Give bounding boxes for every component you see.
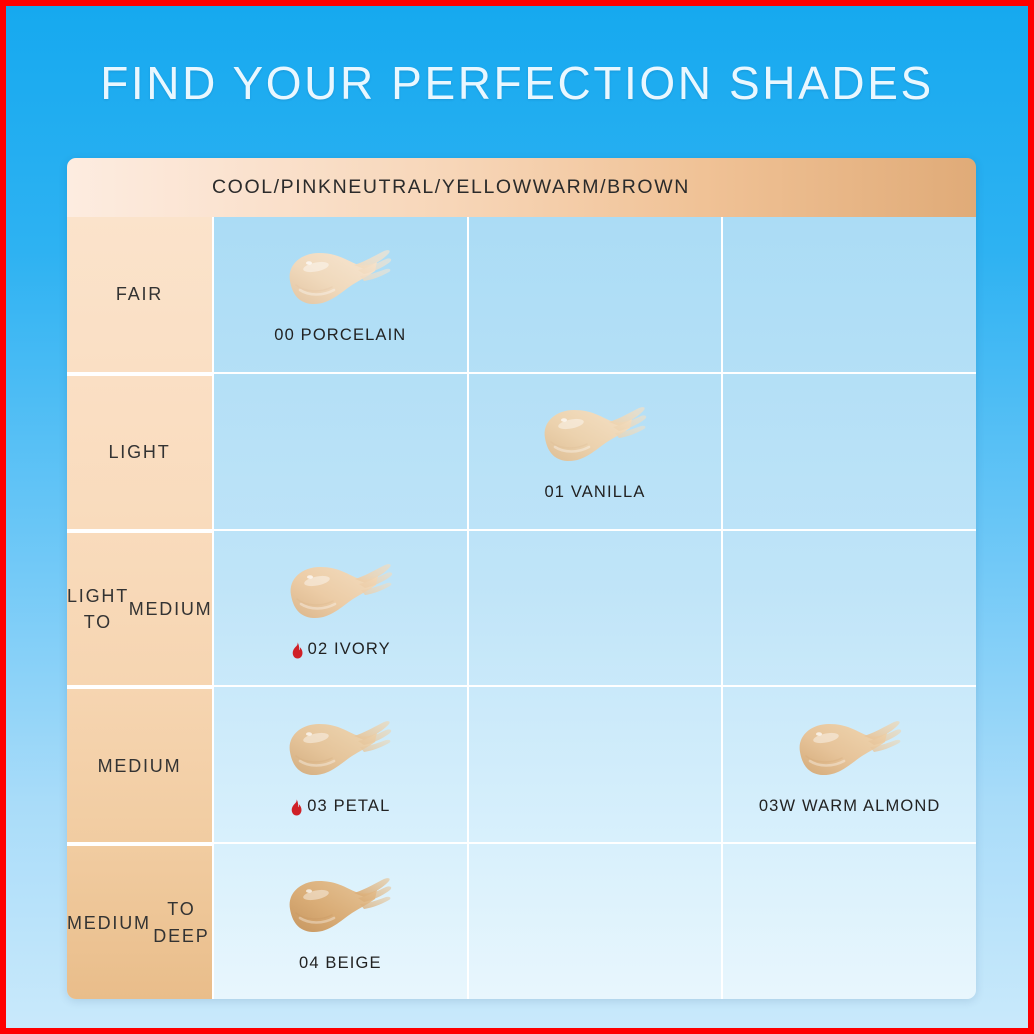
page-title: FIND YOUR PERFECTION SHADES <box>6 58 1028 109</box>
shade-name-01: 01 VANILLA <box>544 483 645 502</box>
shade-cell-empty-medium-to-deep-warm-brown <box>721 844 976 999</box>
shade-cell-00[interactable]: 00 PORCELAIN <box>212 217 467 372</box>
flame-icon <box>290 799 303 816</box>
foundation-swatch-art <box>277 557 405 631</box>
shade-cell-empty-light-warm-brown <box>721 374 976 529</box>
row-header-line: FAIR <box>116 281 163 307</box>
table-row: MEDIUM 03 PETAL <box>67 685 976 842</box>
table-header-corner <box>67 158 212 217</box>
table-row: LIGHT TOMEDIUM 02 IVORY <box>67 529 976 686</box>
shade-name-text: 01 VANILLA <box>544 483 645 502</box>
shade-name-02: 02 IVORY <box>291 640 391 659</box>
poster-canvas: FIND YOUR PERFECTION SHADES COOL/PINK NE… <box>6 6 1028 1028</box>
shade-cell-02[interactable]: 02 IVORY <box>212 531 467 686</box>
table-body: FAIR 00 PORCELAINLIGHT <box>67 217 976 999</box>
shade-name-text: 03W WARM ALMOND <box>759 797 941 816</box>
flame-icon <box>291 642 304 659</box>
shade-cell-empty-light-to-medium-neutral-yellow <box>467 531 722 686</box>
row-header-line: MEDIUM <box>98 753 182 779</box>
row-header-line: LIGHT <box>108 439 170 465</box>
row-header-line: MEDIUM <box>129 596 213 622</box>
foundation-swatch-art <box>276 243 404 317</box>
swatch-03w <box>786 714 914 788</box>
column-header-cool-pink: COOL/PINK <box>212 158 333 217</box>
row-header-line: MEDIUM <box>67 910 151 936</box>
table-header-row: COOL/PINK NEUTRAL/YELLOW WARM/BROWN <box>67 158 976 217</box>
foundation-swatch-art <box>786 714 914 788</box>
table-row: LIGHT 01 VANILLA <box>67 372 976 529</box>
row-header-medium-to-deep: MEDIUMTO DEEP <box>67 844 212 999</box>
shade-cell-empty-medium-to-deep-neutral-yellow <box>467 844 722 999</box>
shade-cell-01[interactable]: 01 VANILLA <box>467 374 722 529</box>
swatch-02 <box>277 557 405 631</box>
row-header-line: LIGHT TO <box>67 583 129 635</box>
column-header-neutral-yellow: NEUTRAL/YELLOW <box>333 158 533 217</box>
shade-name-04: 04 BEIGE <box>299 954 382 973</box>
row-header-light-to-medium: LIGHT TOMEDIUM <box>67 531 212 686</box>
shade-name-text: 03 PETAL <box>307 797 390 816</box>
row-header-medium: MEDIUM <box>67 687 212 842</box>
swatch-01 <box>531 400 659 474</box>
shade-name-text: 04 BEIGE <box>299 954 382 973</box>
foundation-swatch-art <box>276 714 404 788</box>
shade-cell-03w[interactable]: 03W WARM ALMOND <box>721 687 976 842</box>
shade-name-03: 03 PETAL <box>290 797 390 816</box>
shade-cell-empty-fair-neutral-yellow <box>467 217 722 372</box>
table-row: MEDIUMTO DEEP 04 BEIGE <box>67 842 976 999</box>
shade-cell-03[interactable]: 03 PETAL <box>212 687 467 842</box>
shade-cell-04[interactable]: 04 BEIGE <box>212 844 467 999</box>
shade-cell-empty-medium-neutral-yellow <box>467 687 722 842</box>
table-row: FAIR 00 PORCELAIN <box>67 217 976 372</box>
flame-icon <box>291 642 304 659</box>
row-header-light: LIGHT <box>67 374 212 529</box>
row-header-fair: FAIR <box>67 217 212 372</box>
foundation-swatch-art <box>276 871 404 945</box>
foundation-swatch-art <box>531 400 659 474</box>
shade-finder-table: COOL/PINK NEUTRAL/YELLOW WARM/BROWN FAIR <box>67 158 976 999</box>
swatch-00 <box>276 243 404 317</box>
row-header-line: TO DEEP <box>151 896 212 948</box>
shade-cell-empty-fair-warm-brown <box>721 217 976 372</box>
column-header-warm-brown: WARM/BROWN <box>533 158 690 217</box>
shade-name-00: 00 PORCELAIN <box>274 326 406 345</box>
shade-name-text: 02 IVORY <box>308 640 391 659</box>
flame-icon <box>290 799 303 816</box>
shade-name-text: 00 PORCELAIN <box>274 326 406 345</box>
swatch-03 <box>276 714 404 788</box>
shade-cell-empty-light-to-medium-warm-brown <box>721 531 976 686</box>
shade-name-03w: 03W WARM ALMOND <box>759 797 941 816</box>
shade-cell-empty-light-cool-pink <box>212 374 467 529</box>
swatch-04 <box>276 871 404 945</box>
